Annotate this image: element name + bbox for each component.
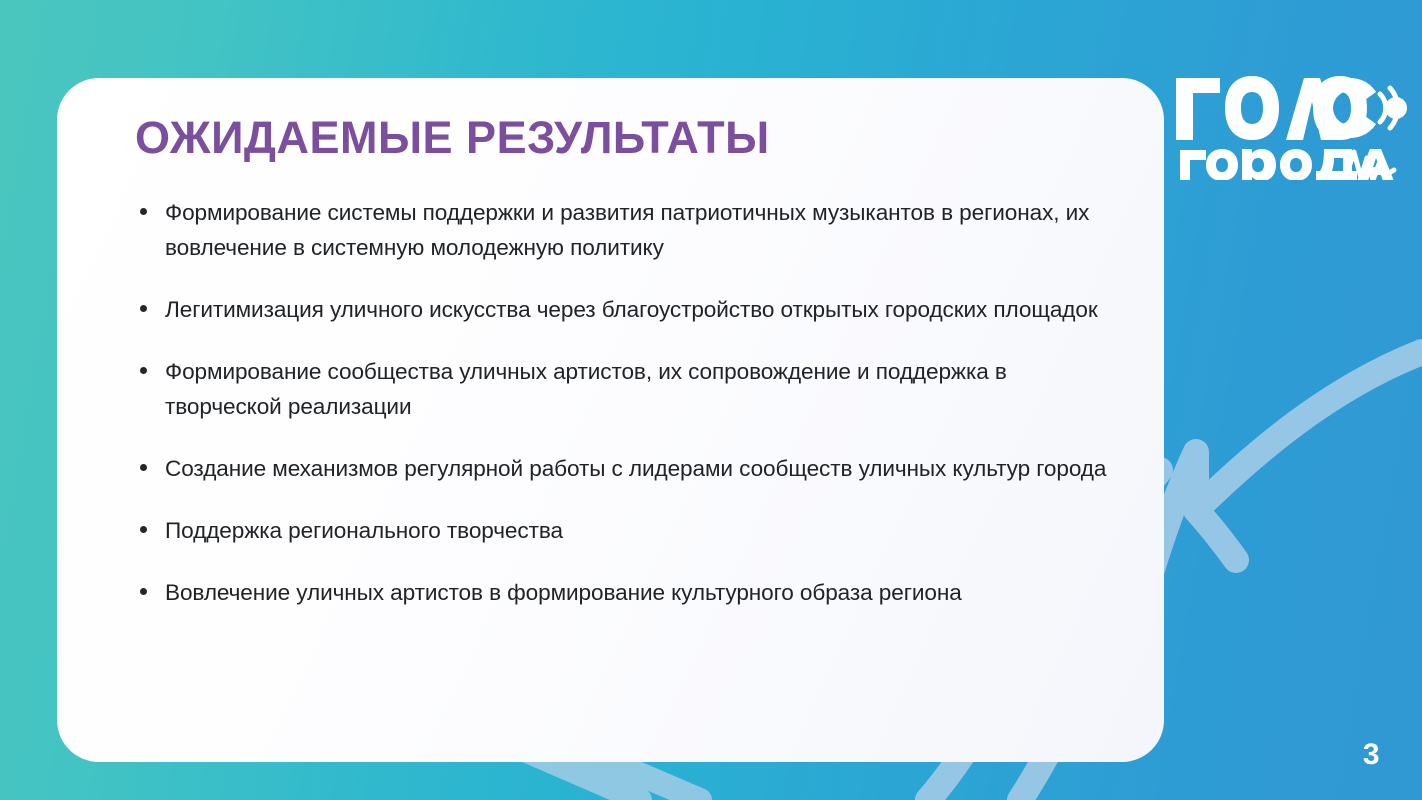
list-item: Поддержка регионального творчества bbox=[135, 513, 1112, 548]
list-item: Вовлечение уличных артистов в формирован… bbox=[135, 575, 1112, 610]
content-card: ОЖИДАЕМЫЕ РЕЗУЛЬТАТЫ Формирование систем… bbox=[57, 78, 1164, 762]
brand-logo bbox=[1174, 72, 1408, 180]
presentation-slide: ОЖИДАЕМЫЕ РЕЗУЛЬТАТЫ Формирование систем… bbox=[0, 0, 1422, 800]
list-item: Формирование системы поддержки и развити… bbox=[135, 195, 1112, 265]
page-title: ОЖИДАЕМЫЕ РЕЗУЛЬТАТЫ bbox=[97, 114, 1112, 161]
list-item: Легитимизация уличного искусства через б… bbox=[135, 292, 1112, 327]
results-bullet-list: Формирование системы поддержки и развити… bbox=[97, 195, 1112, 610]
slide-page-number: 3 bbox=[1363, 738, 1380, 772]
list-item: Создание механизмов регулярной работы с … bbox=[135, 451, 1112, 486]
list-item: Формирование сообщества уличных артистов… bbox=[135, 354, 1112, 424]
